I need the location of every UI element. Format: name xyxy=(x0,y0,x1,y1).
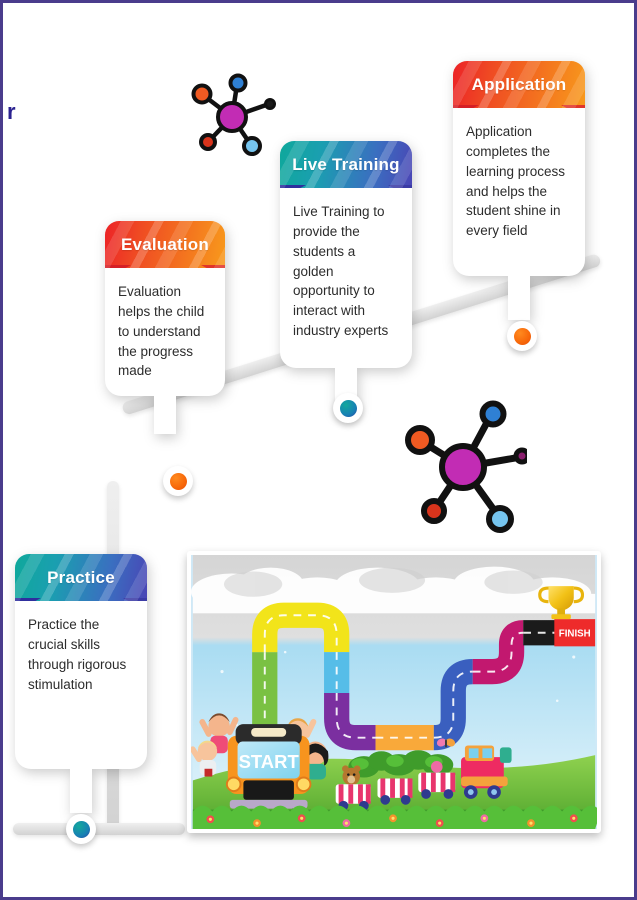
pin-live-training[interactable] xyxy=(333,393,363,423)
card-application-body: Application completes the learning proce… xyxy=(453,108,585,276)
teddy-bear xyxy=(342,765,360,785)
learning-journey-illustration: FINISH xyxy=(187,551,601,833)
card-practice-body: Practice the crucial skills through rigo… xyxy=(15,601,147,769)
finish-label: FINISH xyxy=(559,629,591,640)
finish-sign: FINISH xyxy=(554,619,595,646)
card-evaluation-text: Evaluation helps the child to understand… xyxy=(118,282,212,381)
card-evaluation-title: Evaluation xyxy=(121,235,209,255)
card-application-text: Application completes the learning proce… xyxy=(466,122,572,241)
card-practice[interactable]: Practice Practice the crucial skills thr… xyxy=(15,554,147,813)
track-horizontal-bottom xyxy=(13,823,185,835)
molecule-network-icon-small xyxy=(185,69,279,161)
card-evaluation[interactable]: Evaluation Evaluation helps the child to… xyxy=(105,221,225,434)
infographic-page: r xyxy=(0,0,637,900)
card-live-training[interactable]: Live Training Live Training to provide t… xyxy=(280,141,412,412)
pin-application[interactable] xyxy=(507,321,537,351)
card-live-training-body: Live Training to provide the students a … xyxy=(280,188,412,368)
bus-grille xyxy=(243,780,294,799)
headlight-right xyxy=(297,778,311,792)
card-live-training-text: Live Training to provide the students a … xyxy=(293,202,399,341)
pin-dot xyxy=(170,473,187,490)
card-application-stem xyxy=(508,276,530,320)
card-practice-text: Practice the crucial skills through rigo… xyxy=(28,615,134,694)
pin-practice[interactable] xyxy=(66,814,96,844)
train-chimney xyxy=(500,747,512,763)
card-application-header: Application xyxy=(453,61,585,108)
card-evaluation-body: Evaluation helps the child to understand… xyxy=(105,268,225,396)
card-live-training-header: Live Training xyxy=(280,141,412,188)
card-practice-header: Practice xyxy=(15,554,147,601)
card-evaluation-header: Evaluation xyxy=(105,221,225,268)
pin-dot xyxy=(73,821,90,838)
card-practice-stem xyxy=(70,769,92,813)
stray-letter: r xyxy=(7,99,16,125)
flower-strip xyxy=(193,806,597,829)
molecule-network-icon-large xyxy=(399,399,527,535)
pin-evaluation[interactable] xyxy=(163,466,193,496)
card-evaluation-stem xyxy=(154,396,176,434)
start-label: START xyxy=(239,751,300,772)
card-practice-title: Practice xyxy=(47,568,115,588)
pin-dot xyxy=(514,328,531,345)
card-application[interactable]: Application Application completes the le… xyxy=(453,61,585,320)
headlight-left xyxy=(227,778,241,792)
card-live-training-title: Live Training xyxy=(292,155,399,175)
card-application-title: Application xyxy=(472,75,567,95)
train-passenger xyxy=(431,761,443,773)
illustration-svg: FINISH xyxy=(191,555,597,829)
pin-dot xyxy=(340,400,357,417)
